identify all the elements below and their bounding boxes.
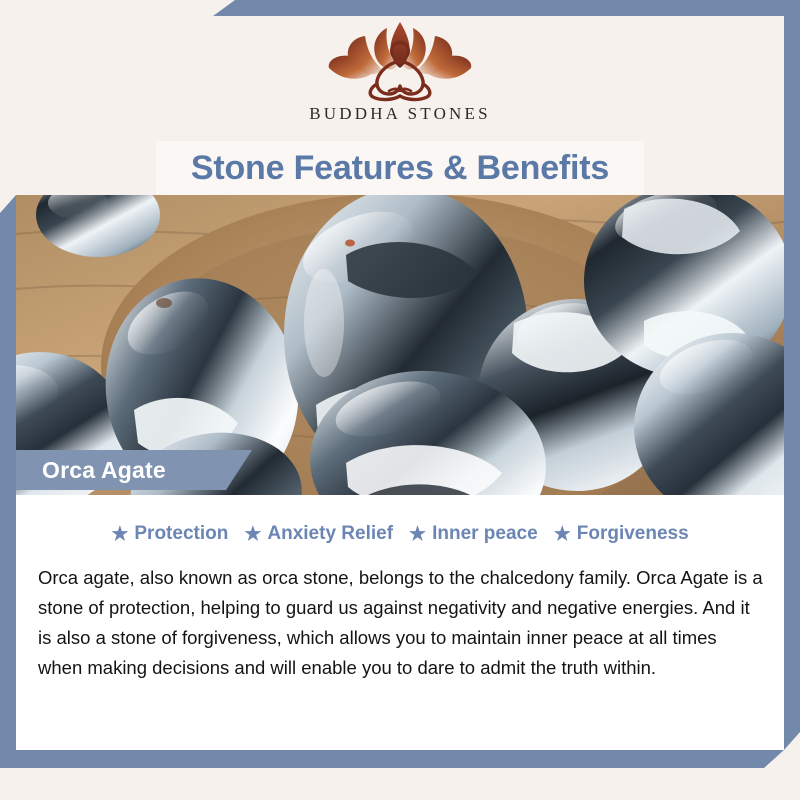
infographic-page: BUDDHA STONES Stone Features & Benefits — [0, 0, 800, 800]
brand-logo: BUDDHA STONES — [0, 18, 800, 140]
feature-item-inner-peace: ★ Inner peace — [409, 523, 538, 545]
feature-label: Inner peace — [432, 523, 538, 545]
brand-name: BUDDHA STONES — [309, 104, 491, 124]
feature-label: Protection — [134, 523, 228, 545]
decorative-bar-top — [213, 0, 800, 16]
decorative-bar-left — [0, 195, 16, 768]
title-banner: Stone Features & Benefits — [156, 141, 644, 195]
content-card: ★ Protection ★ Anxiety Relief ★ Inner pe… — [16, 495, 784, 750]
lotus-meditation-figure-icon — [315, 18, 485, 102]
star-icon: ★ — [111, 525, 128, 544]
features-list: ★ Protection ★ Anxiety Relief ★ Inner pe… — [16, 523, 784, 545]
stone-name-text: Orca Agate — [42, 457, 166, 484]
page-title: Stone Features & Benefits — [191, 149, 609, 188]
decorative-bar-bottom — [0, 750, 784, 768]
feature-label: Forgiveness — [577, 523, 689, 545]
stone-name-label: Orca Agate — [16, 450, 252, 490]
feature-item-protection: ★ Protection — [111, 523, 228, 545]
star-icon: ★ — [409, 525, 426, 544]
feature-label: Anxiety Relief — [267, 523, 393, 545]
feature-item-anxiety-relief: ★ Anxiety Relief — [244, 523, 393, 545]
feature-item-forgiveness: ★ Forgiveness — [554, 523, 689, 545]
star-icon: ★ — [244, 525, 261, 544]
stone-description: Orca agate, also known as orca stone, be… — [38, 563, 764, 683]
star-icon: ★ — [554, 525, 571, 544]
